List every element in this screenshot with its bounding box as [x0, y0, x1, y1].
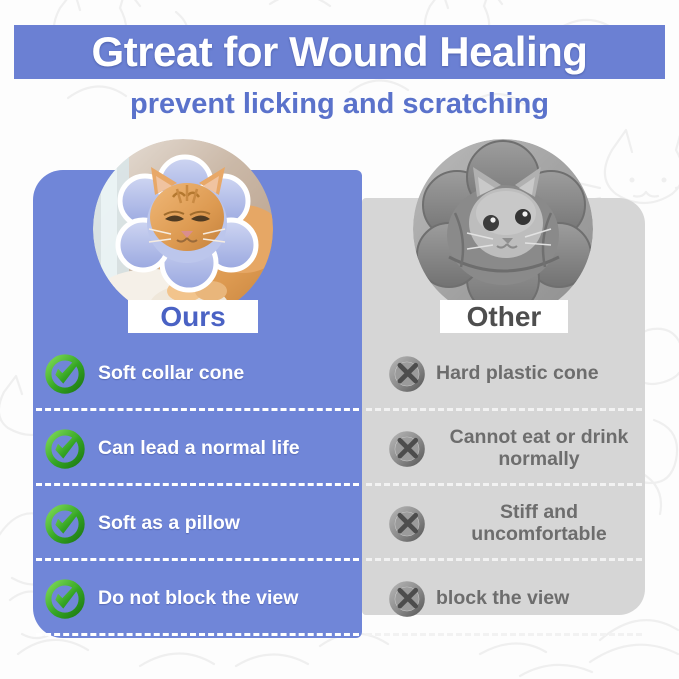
other-label-text: Other: [467, 301, 542, 333]
page-subtitle: prevent licking and scratching: [0, 88, 679, 121]
list-item: Do not block the view: [36, 561, 359, 636]
row-divider: [366, 633, 642, 636]
row-divider: [366, 558, 642, 561]
list-item-label: Can lead a normal life: [98, 438, 300, 460]
row-divider: [366, 408, 642, 411]
list-item-label: Cannot eat or drink normally: [436, 427, 642, 471]
list-item: Cannot eat or drink normally: [366, 411, 642, 486]
list-item-label: Do not block the view: [98, 588, 298, 610]
gray-cross-icon: [388, 355, 426, 393]
list-item-label: Stiff and uncomfortable: [436, 502, 642, 546]
row-divider: [36, 633, 359, 636]
product-comparison-infographic: Gtreat for Wound Healing prevent licking…: [0, 0, 679, 679]
list-item: Soft as a pillow: [36, 486, 359, 561]
list-item: Soft collar cone: [36, 336, 359, 411]
ours-label-chip: Ours: [128, 300, 258, 333]
gray-cross-icon: [388, 505, 426, 543]
green-check-icon: [44, 503, 86, 545]
other-feature-list: Hard plastic cone Cannot eat or drink no…: [366, 336, 642, 636]
other-label-chip: Other: [440, 300, 568, 333]
green-check-icon: [44, 428, 86, 470]
gray-cross-icon: [388, 430, 426, 468]
ours-feature-list: Soft collar cone Can lead a normal life …: [36, 336, 359, 636]
list-item: block the view: [366, 561, 642, 636]
row-divider: [36, 483, 359, 486]
row-divider: [36, 408, 359, 411]
ours-product-photo: [93, 139, 273, 319]
row-divider: [366, 483, 642, 486]
gray-cross-icon: [388, 580, 426, 618]
list-item-label: Soft as a pillow: [98, 513, 240, 535]
green-check-icon: [44, 353, 86, 395]
ours-label-text: Ours: [160, 301, 225, 333]
green-check-icon: [44, 578, 86, 620]
page-title: Gtreat for Wound Healing: [14, 22, 665, 82]
list-item-label: Hard plastic cone: [436, 363, 599, 385]
list-item: Stiff and uncomfortable: [366, 486, 642, 561]
list-item: Can lead a normal life: [36, 411, 359, 486]
list-item-label: Soft collar cone: [98, 363, 244, 385]
other-product-photo: [413, 139, 593, 319]
row-divider: [36, 558, 359, 561]
list-item: Hard plastic cone: [366, 336, 642, 411]
list-item-label: block the view: [436, 588, 569, 610]
